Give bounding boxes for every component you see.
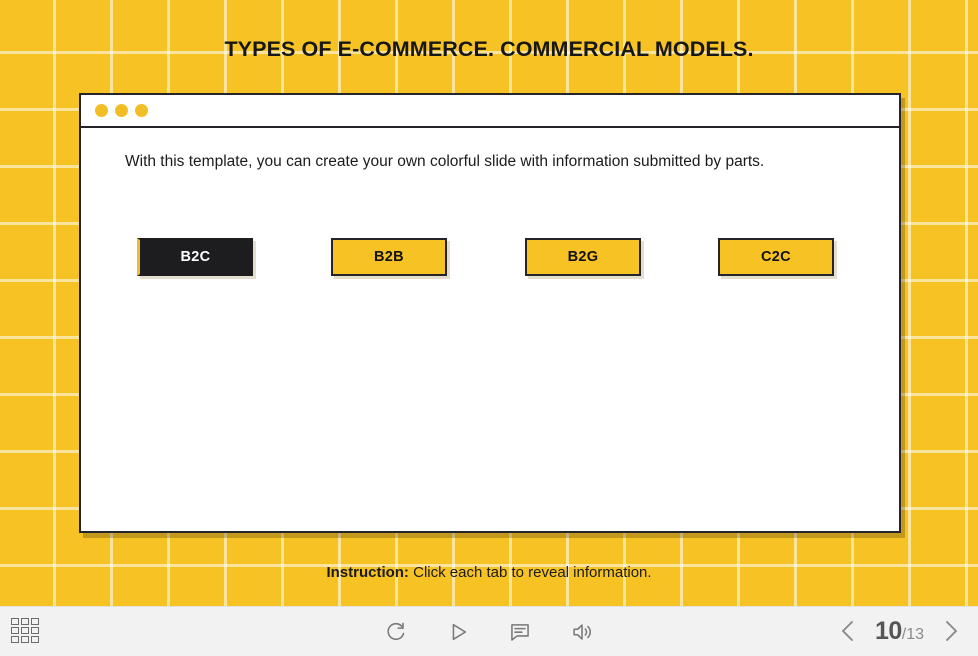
play-icon[interactable] [443, 617, 473, 647]
slide-canvas: TYPES OF E-COMMERCE. COMMERCIAL MODELS. … [0, 0, 978, 606]
grid-cell [11, 627, 19, 634]
notes-icon[interactable] [505, 617, 535, 647]
window-dot-maximize-icon [135, 104, 148, 117]
playback-controls [381, 616, 597, 648]
tab-b2b[interactable]: B2B [331, 238, 447, 276]
instruction-text: Click each tab to reveal information. [409, 564, 652, 581]
grid-cell [31, 636, 39, 643]
grid-cell [21, 627, 29, 634]
instruction-label: Instruction: [326, 564, 409, 581]
tab-b2g-label: B2G [568, 249, 599, 265]
grid-cell [31, 627, 39, 634]
browser-titlebar [81, 95, 899, 128]
slide-navigation: 10 /13 [835, 614, 964, 648]
page-total: /13 [902, 626, 924, 644]
browser-content: With this template, you can create your … [81, 128, 899, 531]
page-current: 10 [875, 617, 902, 646]
page-counter: 10 /13 [875, 617, 924, 646]
volume-icon[interactable] [567, 617, 597, 647]
previous-slide-icon[interactable] [835, 616, 861, 646]
window-dot-close-icon [95, 104, 108, 117]
page-title: TYPES OF E-COMMERCE. COMMERCIAL MODELS. [0, 37, 978, 62]
browser-window-mockup: With this template, you can create your … [79, 93, 901, 533]
instruction: Instruction: Click each tab to reveal in… [0, 564, 978, 581]
grid-cell [21, 636, 29, 643]
tab-b2c[interactable]: B2C [137, 238, 253, 276]
grid-cell [21, 618, 29, 625]
replay-icon[interactable] [381, 617, 411, 647]
tab-c2c-label: C2C [761, 249, 791, 265]
grid-cell [31, 618, 39, 625]
intro-text: With this template, you can create your … [125, 152, 865, 172]
tab-c2c[interactable]: C2C [718, 238, 834, 276]
tab-b2g[interactable]: B2G [525, 238, 641, 276]
grid-cell [11, 636, 19, 643]
next-slide-icon[interactable] [938, 616, 964, 646]
window-dot-minimize-icon [115, 104, 128, 117]
grid-cell [11, 618, 19, 625]
slide-viewer: TYPES OF E-COMMERCE. COMMERCIAL MODELS. … [0, 0, 978, 656]
tab-row: B2C B2B B2G C2C [137, 208, 877, 248]
tab-content-panel [125, 278, 865, 508]
tab-b2c-label: B2C [181, 249, 211, 265]
window-dots-group [95, 104, 148, 117]
slides-grid-icon[interactable] [11, 618, 41, 645]
tab-b2b-label: B2B [374, 249, 404, 265]
